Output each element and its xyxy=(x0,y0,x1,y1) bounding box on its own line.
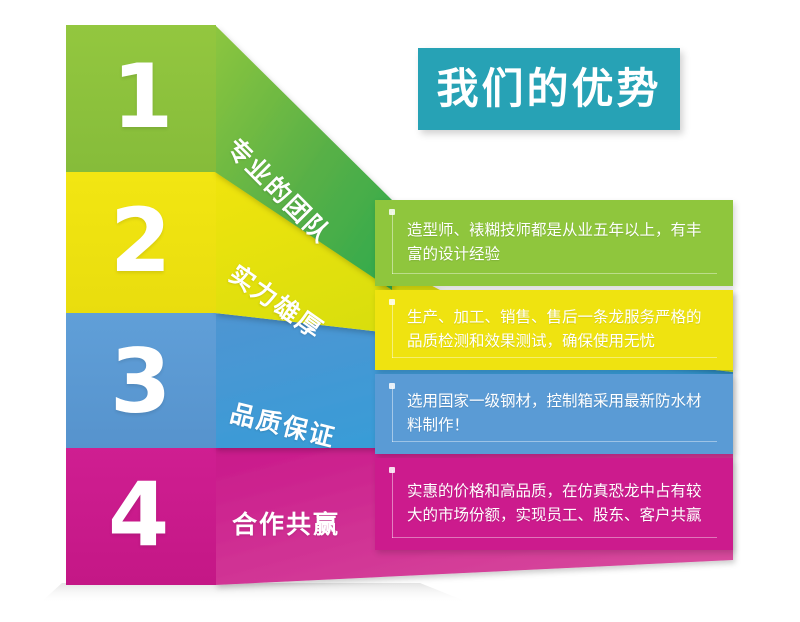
step-description-card-4: 实惠的价格和高品质，在仿真恐龙中占有较大的市场份额，实现员工、股东、客户共赢 xyxy=(375,458,733,550)
page-title: 我们的优势 xyxy=(436,68,661,110)
card-underline-deco-icon xyxy=(392,273,717,274)
step-description-text-2: 生产、加工、销售、售后一条龙服务严格的品质检测和效果测试，确保使用无忧 xyxy=(407,306,715,354)
card-corner-deco-icon xyxy=(392,212,393,274)
step-description-text-1: 造型师、裱糊技师都是从业五年以上，有丰富的设计经验 xyxy=(407,219,715,267)
card-underline-deco-icon xyxy=(392,441,717,442)
step-description-card-1: 造型师、裱糊技师都是从业五年以上，有丰富的设计经验 xyxy=(375,200,733,286)
step-number-4: 4 xyxy=(108,471,169,559)
step-number-2: 2 xyxy=(110,197,171,285)
advantages-infographic: 我们的优势 1 2 3 4 专业的团队 实力雄厚 品质保证 合作共赢 造型师、裱… xyxy=(0,0,800,622)
step-description-card-3: 选用国家一级钢材，控制箱采用最新防水材料制作！ xyxy=(375,374,733,454)
step-number-3: 3 xyxy=(110,338,171,426)
card-corner-deco-icon xyxy=(392,302,393,358)
step-label-4: 合作共赢 xyxy=(232,505,340,541)
step-description-card-2: 生产、加工、销售、售后一条龙服务严格的品质检测和效果测试，确保使用无忧 xyxy=(375,290,733,370)
step-description-text-3: 选用国家一级钢材，控制箱采用最新防水材料制作！ xyxy=(407,390,715,438)
card-underline-deco-icon xyxy=(392,357,717,358)
page-title-banner: 我们的优势 xyxy=(418,48,680,130)
step-number-1: 1 xyxy=(112,53,173,141)
card-underline-deco-icon xyxy=(392,537,717,538)
card-corner-deco-icon xyxy=(392,386,393,442)
card-corner-deco-icon xyxy=(392,470,393,538)
step-description-text-4: 实惠的价格和高品质，在仿真恐龙中占有较大的市场份额，实现员工、股东、客户共赢 xyxy=(407,480,715,528)
